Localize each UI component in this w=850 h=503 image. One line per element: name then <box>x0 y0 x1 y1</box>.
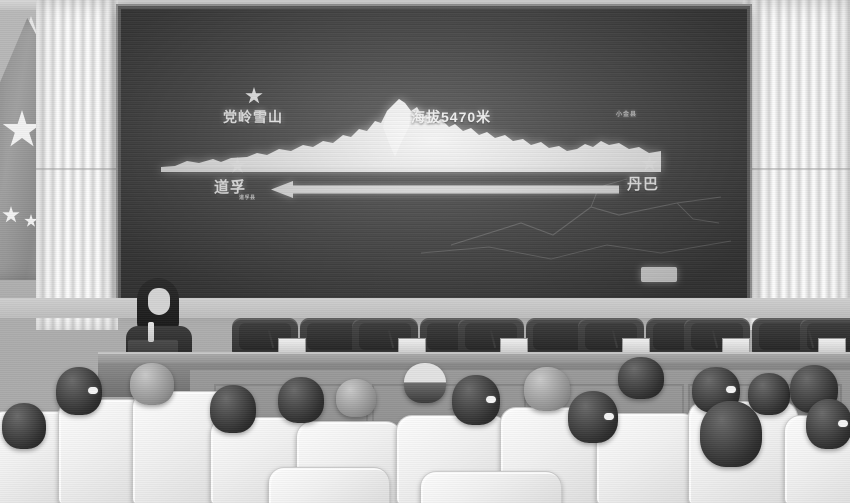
audience-member-head <box>278 377 324 423</box>
elevation-label: 海拔5470米 <box>411 107 491 127</box>
delegate-nameplate <box>278 338 306 353</box>
presenter-face <box>148 288 170 315</box>
hair-tie <box>486 396 496 403</box>
seated-audience <box>0 355 850 503</box>
curtain-seam <box>742 168 850 170</box>
water-bottle <box>148 322 154 342</box>
destination-sub-label: 道孚县 <box>239 194 256 201</box>
pleated-curtain-left <box>36 0 118 330</box>
delegate-nameplate <box>500 338 528 353</box>
hair-tie <box>838 420 848 427</box>
hair-tie <box>726 386 736 393</box>
curtain-seam <box>36 168 118 170</box>
slide-corner-badge <box>641 267 677 282</box>
delegate-nameplate <box>818 338 846 353</box>
audience-member-head <box>618 357 664 399</box>
projection-screen-frame: 党岭雪山 海拔5470米 小金县 道孚 道孚县 丹巴 <box>118 6 750 304</box>
auditorium-seat <box>420 471 562 503</box>
flag-small-star-icon-1 <box>2 206 20 224</box>
pleated-curtain-right <box>742 0 850 330</box>
audience-member-head <box>336 379 376 417</box>
delegate-nameplate <box>722 338 750 353</box>
audience-member-head <box>130 363 174 405</box>
female-presenter-at-desk <box>112 278 222 358</box>
direction-arrow-icon <box>271 181 619 198</box>
auditorium-seat <box>268 467 390 503</box>
audience-member-head <box>748 373 790 415</box>
origin-label: 丹巴 <box>627 173 659 194</box>
lecture-hall-photo: 党岭雪山 海拔5470米 小金县 道孚 道孚县 丹巴 <box>0 0 850 503</box>
hair-tie <box>88 387 98 394</box>
audience-member-head <box>210 385 256 433</box>
audience-member-head <box>524 367 570 411</box>
corner-place-label: 小金县 <box>616 109 637 118</box>
delegate-nameplate <box>398 338 426 353</box>
hair-tie <box>604 413 614 420</box>
projection-screen[interactable]: 党岭雪山 海拔5470米 小金县 道孚 道孚县 丹巴 <box>121 9 747 301</box>
audience-member-head <box>2 403 46 449</box>
audience-member-head <box>404 363 446 403</box>
delegate-nameplate <box>622 338 650 353</box>
audience-member-head <box>700 401 762 467</box>
peak-name-label: 党岭雪山 <box>223 107 283 127</box>
